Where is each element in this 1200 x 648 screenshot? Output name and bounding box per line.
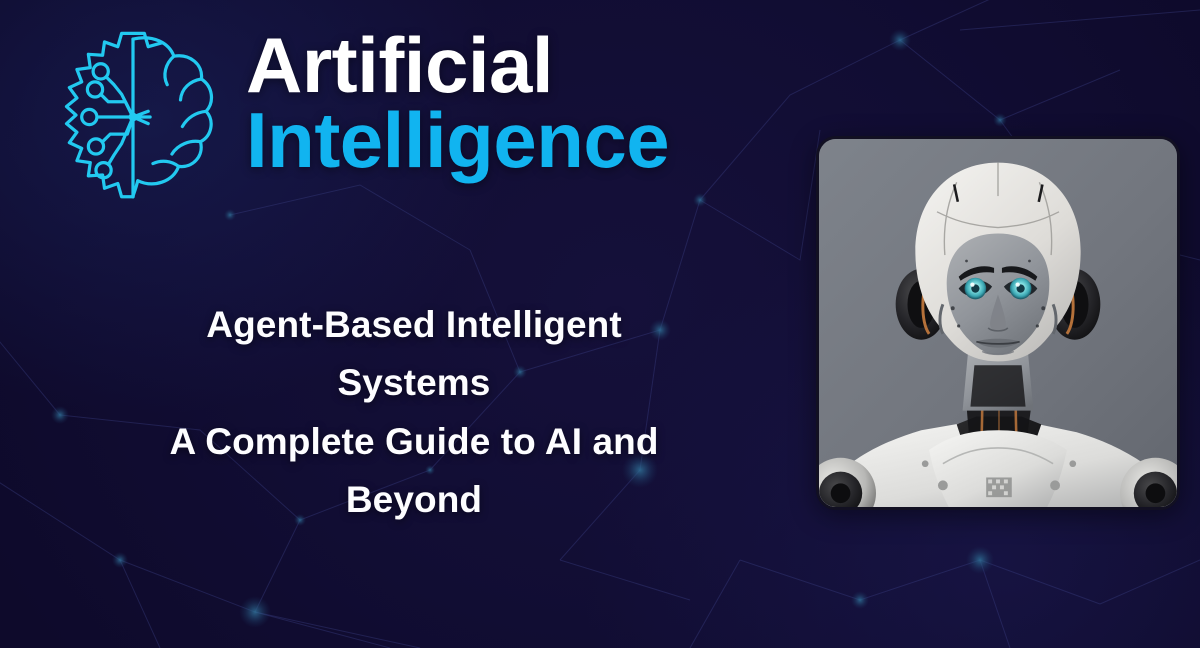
subtitle: Agent-Based Intelligent Systems A Comple… <box>56 296 772 530</box>
robot-illustration <box>819 139 1177 507</box>
humanoid-robot-photo <box>816 136 1180 510</box>
title-line-intelligence: Intelligence <box>246 103 669 178</box>
page-title: Artificial Intelligence <box>246 28 669 178</box>
title-line-artificial: Artificial <box>246 28 669 103</box>
ai-banner: Artificial Intelligence Agent-Based Inte… <box>0 0 1200 648</box>
ai-brain-gear-logo <box>38 22 228 212</box>
subtitle-line-1: Agent-Based Intelligent <box>56 296 772 354</box>
subtitle-line-3: A Complete Guide to AI and <box>56 413 772 471</box>
subtitle-line-2: Systems <box>56 354 772 412</box>
subtitle-line-4: Beyond <box>56 471 772 529</box>
